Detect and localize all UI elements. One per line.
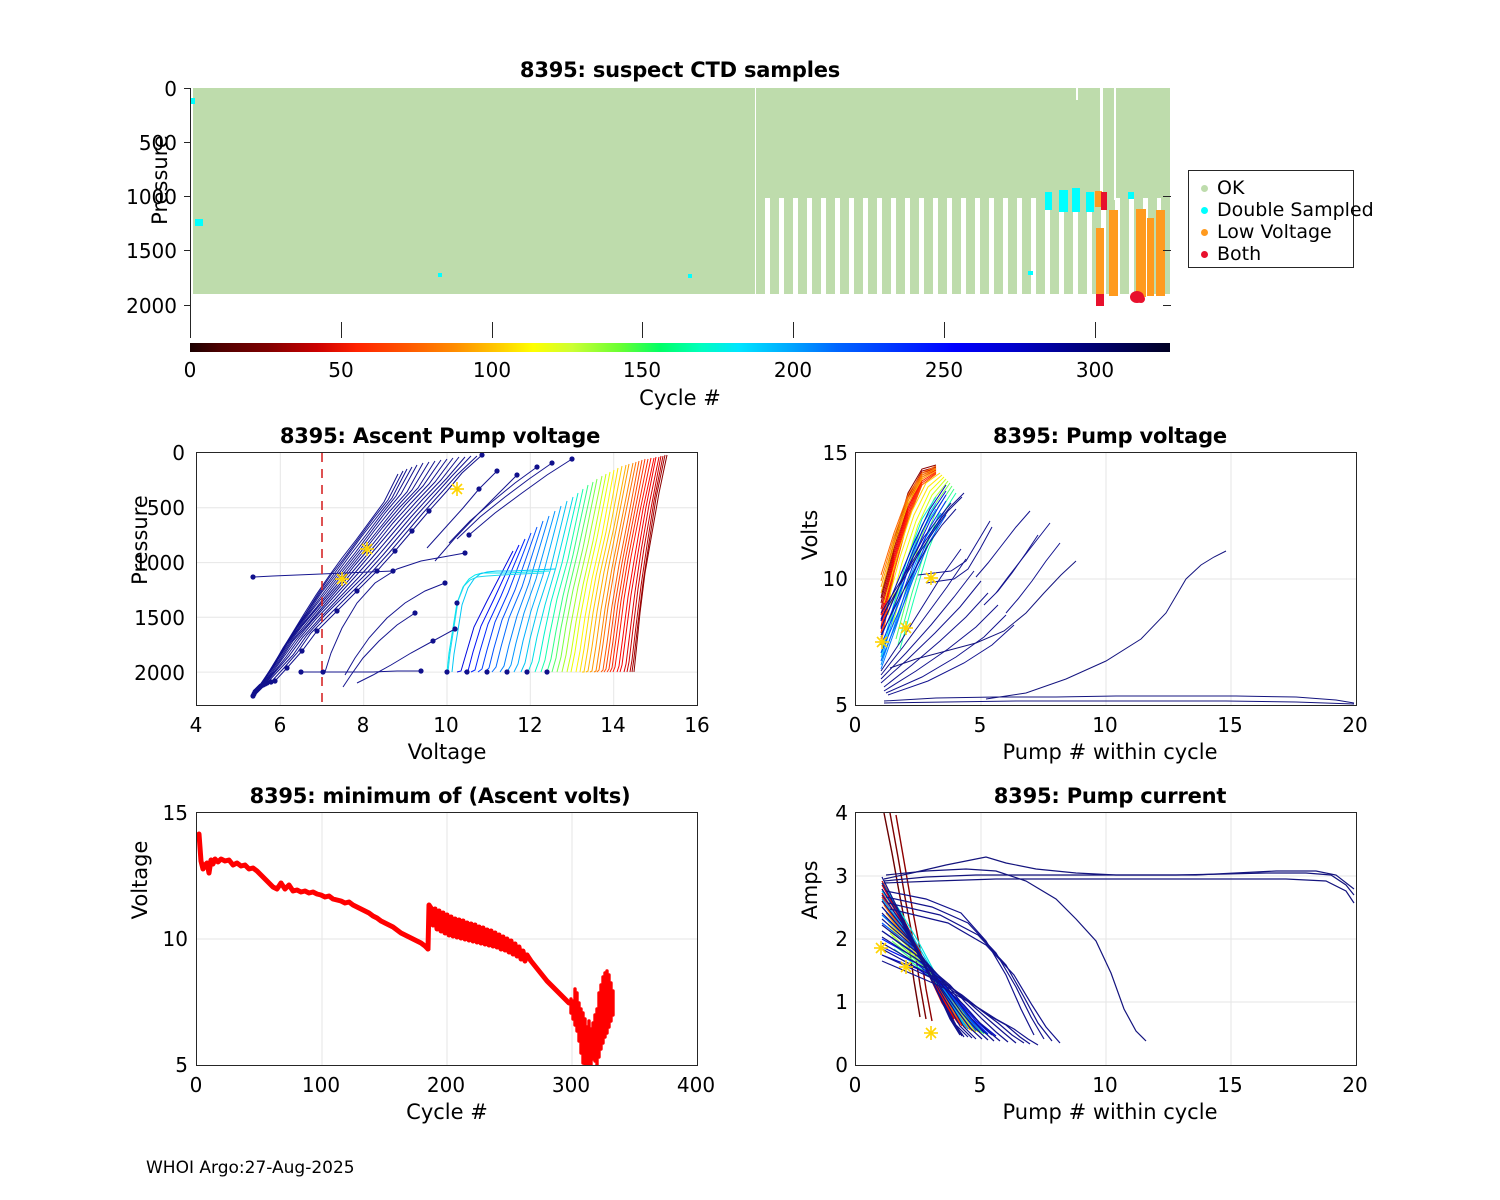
suspect-right-tick [1163,196,1171,197]
suspect-xtick-mark [944,322,945,338]
suspect-ytick-label: 1500 [95,239,177,263]
legend-item-ok[interactable]: OK [1197,177,1343,199]
legend-item-low-voltage[interactable]: Low Voltage [1197,221,1343,243]
pump-voltage-title: 8395: Pump voltage [850,424,1370,448]
min-ascent-volts-ytick-label: 10 [130,927,188,951]
legend-label-ok: OK [1217,179,1244,198]
ascent-xtick-label: 10 [406,713,486,737]
suspect-xtick-mark [341,322,342,338]
suspect-xtick-mark [492,322,493,338]
min-ascent-volts-xtick-label: 0 [156,1073,236,1097]
pump-current-x-axis-label: Pump # within cycle [970,1100,1250,1124]
pump-current-ytick-label: 3 [790,864,848,888]
min-ascent-volts-title: 8395: minimum of (Ascent volts) [170,784,710,808]
legend-swatch-ok [1201,185,1208,192]
pump-voltage-y-axis-label: Volts [798,450,822,620]
ascent-xtick-label: 12 [490,713,570,737]
ascent-xtick-label: 4 [156,713,236,737]
min-ascent-volts-plot-area [196,812,698,1066]
suspect-ytick-mark [184,305,191,306]
suspect-ytick-mark [184,250,191,251]
suspect-ytick-label: 0 [95,77,177,101]
ascent-pump-voltage-title: 8395: Ascent Pump voltage [180,424,700,448]
ascent-ytick-label: 1000 [100,551,185,575]
pump-current-plot-area [855,812,1357,1066]
pump-voltage-plot-area [855,452,1357,706]
suspect-xtick-label: 0 [150,358,230,382]
min-ascent-volts-xtick-label: 300 [531,1073,611,1097]
suspect-xtick-mark [1095,322,1096,338]
pump-voltage-xtick-label: 20 [1315,713,1395,737]
suspect-plot-area [190,88,1170,306]
pump-voltage-xtick-label: 15 [1190,713,1270,737]
legend-label-double-sampled: Double Sampled [1217,201,1374,220]
pump-current-ytick-label: 2 [790,927,848,951]
suspect-xtick-label: 200 [753,358,833,382]
pump-current-xtick-label: 0 [815,1073,895,1097]
min-ascent-volts-svg [197,813,697,1065]
min-ascent-volts-xtick-label: 100 [281,1073,361,1097]
suspect-panel-title: 8395: suspect CTD samples [190,58,1170,82]
suspect-xtick-label: 100 [452,358,532,382]
ascent-ytick-label: 2000 [100,661,185,685]
legend-swatch-both [1201,251,1208,258]
min-ascent-volts-xtick-label: 400 [656,1073,736,1097]
ascent-xtick-label: 8 [323,713,403,737]
suspect-xtick-label: 50 [301,358,381,382]
ascent-pump-voltage-plot-area [196,452,698,706]
suspect-xtick-mark [190,322,191,338]
ascent-ytick-label: 1500 [100,606,185,630]
suspect-xtick-mark [642,322,643,338]
legend-swatch-double-sampled [1201,207,1208,214]
suspect-legend[interactable]: OK Double Sampled Low Voltage Both [1188,170,1354,268]
min-ascent-volts-x-axis-label: Cycle # [357,1100,537,1124]
pump-voltage-ytick-label: 15 [790,441,848,465]
pump-voltage-xtick-label: 0 [815,713,895,737]
pump-voltage-xtick-label: 10 [1065,713,1145,737]
pump-current-xtick-label: 20 [1315,1073,1395,1097]
cycle-colorbar [190,343,1170,352]
legend-item-double-sampled[interactable]: Double Sampled [1197,199,1343,221]
ascent-xtick-label: 14 [573,713,653,737]
pump-voltage-svg [856,453,1356,705]
pump-current-xtick-label: 10 [1065,1073,1145,1097]
min-ascent-volts-xtick-label: 200 [406,1073,486,1097]
pump-current-title: 8395: Pump current [850,784,1370,808]
legend-swatch-low-voltage [1201,229,1208,236]
pump-current-xtick-label: 15 [1190,1073,1270,1097]
ascent-ytick-label: 0 [100,441,185,465]
ascent-pump-voltage-svg [197,453,697,705]
pump-current-xtick-label: 5 [940,1073,1020,1097]
suspect-ytick-mark [184,196,191,197]
pump-voltage-xtick-label: 5 [940,713,1020,737]
suspect-plot-svg [190,88,1170,306]
legend-item-both[interactable]: Both [1197,243,1343,265]
ascent-pump-voltage-x-axis-label: Voltage [357,740,537,764]
suspect-ytick-mark [184,142,191,143]
suspect-xtick-mark [793,322,794,338]
legend-label-low-voltage: Low Voltage [1217,223,1332,242]
min-ascent-volts-ytick-label: 15 [130,801,188,825]
legend-label-both: Both [1217,245,1261,264]
suspect-ytick-label: 500 [95,131,177,155]
suspect-right-tick [1163,305,1171,306]
suspect-xtick-label: 250 [904,358,984,382]
pump-current-ytick-label: 1 [790,990,848,1014]
pump-current-svg [856,813,1356,1065]
suspect-ytick-label: 2000 [95,294,177,318]
pump-current-ytick-label: 4 [790,801,848,825]
ascent-xtick-label: 6 [240,713,320,737]
figure-footer: WHOI Argo:27-Aug-2025 [146,1158,355,1178]
suspect-xtick-label: 150 [602,358,682,382]
ascent-xtick-label: 16 [657,713,737,737]
figure-canvas: 8395: suspect CTD samples Pressure [0,0,1500,1200]
suspect-right-tick [1163,250,1171,251]
suspect-xtick-label: 300 [1055,358,1135,382]
pump-voltage-ytick-label: 10 [790,567,848,591]
suspect-x-axis-label: Cycle # [490,386,870,410]
ascent-ytick-label: 500 [100,496,185,520]
suspect-ytick-label: 1000 [95,185,177,209]
pump-voltage-x-axis-label: Pump # within cycle [970,740,1250,764]
suspect-ytick-mark [184,88,191,89]
suspect-y-spine [190,88,191,338]
